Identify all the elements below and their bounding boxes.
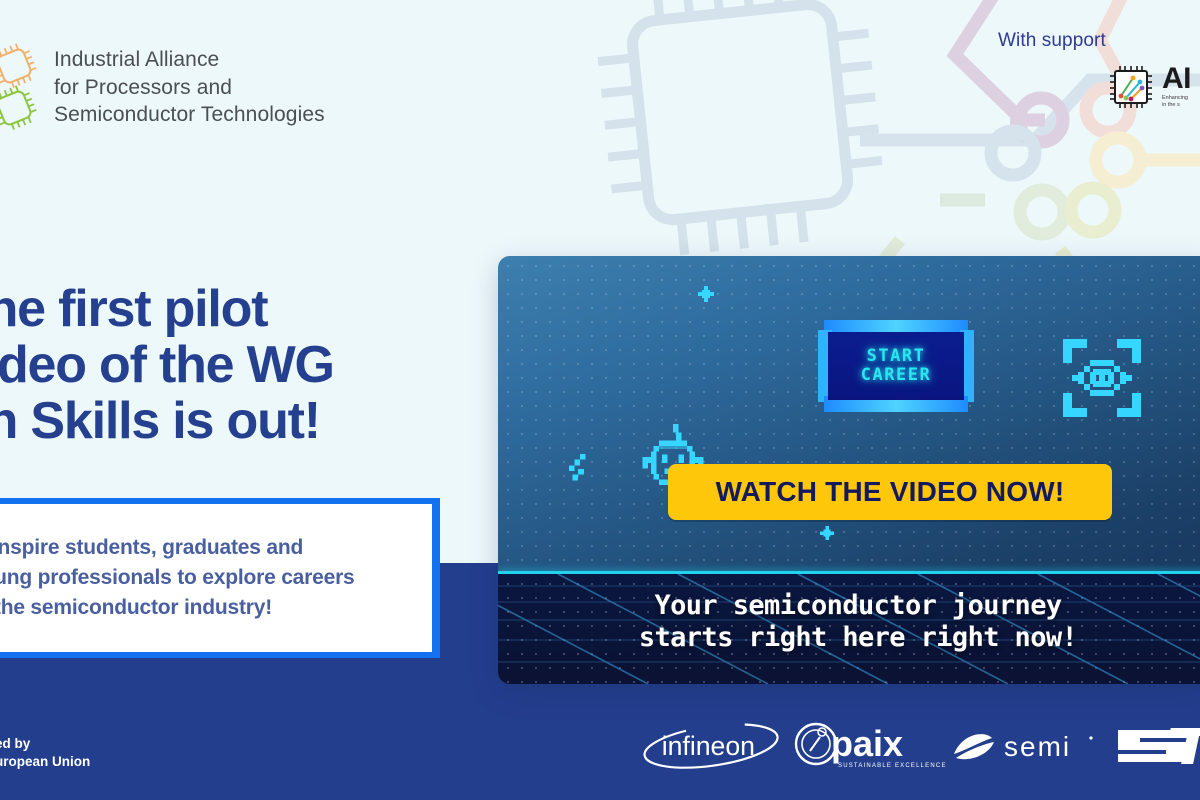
screen-text-line-1: START <box>867 348 926 365</box>
watch-video-button-label: WATCH THE VIDEO NOW! <box>716 476 1065 508</box>
sponsor-label-opaix: paix <box>831 723 903 764</box>
alliance-logo-text: Industrial Alliance for Processors and S… <box>54 42 325 129</box>
with-support-block: With support <box>998 30 1200 110</box>
subtext-card: 's inspire students, graduates and young… <box>0 504 432 652</box>
alliance-logo: Industrial Alliance for Processors and S… <box>0 42 420 142</box>
sparkle-icon-mid <box>820 526 834 540</box>
eye-scanner-icon <box>1054 330 1150 426</box>
support-brand: AI Enhancing in the s <box>1162 65 1191 109</box>
page-title: The first pilot video of the WG on Skill… <box>0 281 456 449</box>
start-career-screen: START CAREER <box>818 320 974 412</box>
support-chip-icon <box>1108 64 1154 110</box>
sponsor-logo-semi: semi <box>950 719 1110 773</box>
panel-tagline: Your semiconductor journey starts right … <box>498 590 1200 654</box>
watch-video-button[interactable]: WATCH THE VIDEO NOW! <box>668 464 1112 520</box>
sponsor-logo-st: ST <box>1110 719 1200 773</box>
sponsor-logo-opaix: paix SUSTAINABLE EXCELLENCE <box>788 719 950 773</box>
sponsor-logo-infineon: infineon <box>640 719 788 773</box>
sponsor-label-infineon: infineon <box>662 731 755 761</box>
screen-text-line-2: CAREER <box>861 367 931 384</box>
screen-display: START CAREER <box>828 332 964 400</box>
support-logo: AI Enhancing in the s <box>1108 64 1200 110</box>
sponsor-tagline-opaix: SUSTAINABLE EXCELLENCE <box>838 763 947 769</box>
spark-bolt-icon <box>568 454 592 484</box>
sponsor-logo-strip: infineon paix SUSTAINABLE EXCELLENCE sem… <box>640 715 1200 777</box>
with-support-label: With support <box>998 30 1200 52</box>
video-promo-panel[interactable]: START CAREER <box>498 256 1200 684</box>
sponsor-label-semi: semi <box>1004 731 1071 762</box>
poster-canvas: Industrial Alliance for Processors and S… <box>0 0 1200 800</box>
support-brand-subtitle: Enhancing in the s <box>1162 95 1191 109</box>
sparkle-icon-top <box>698 286 714 302</box>
subtext-body: 's inspire students, graduates and young… <box>0 533 373 622</box>
funded-by-label: Funded by the European Union <box>0 735 222 771</box>
alliance-chip-icons <box>0 42 42 134</box>
support-brand-name: AI <box>1162 65 1191 93</box>
